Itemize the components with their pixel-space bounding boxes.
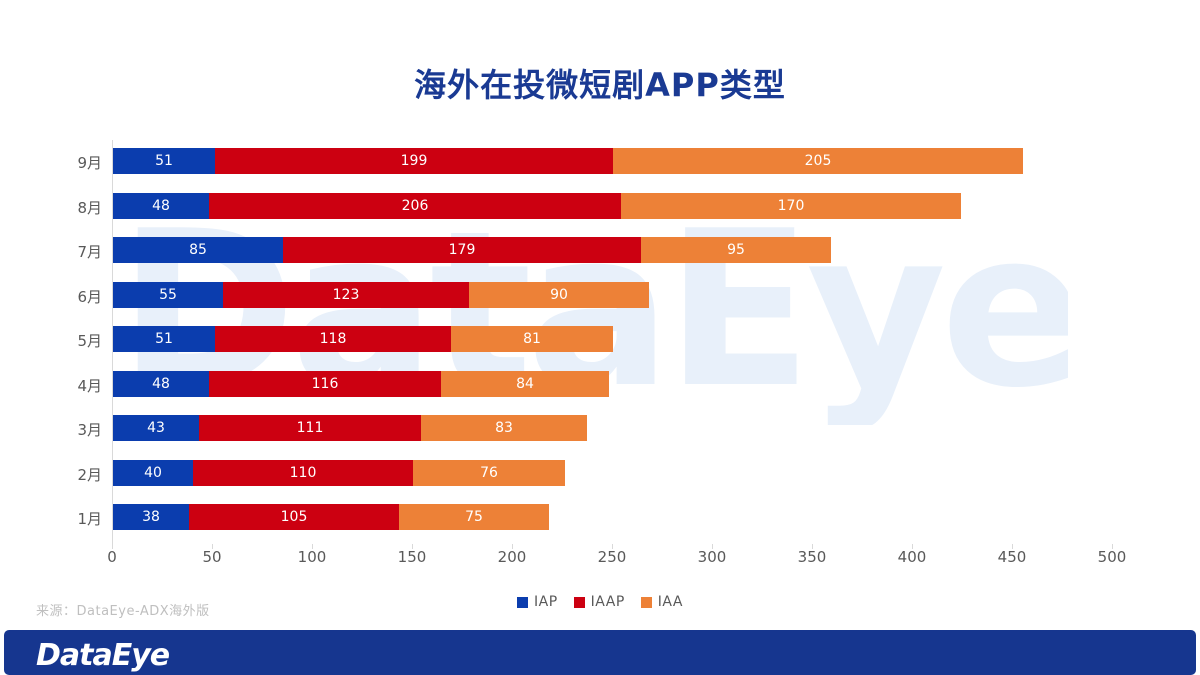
bar-segment-iap[interactable]: 40 xyxy=(113,460,193,486)
bar-segment-iaap[interactable]: 199 xyxy=(215,148,613,174)
x-axis-tick-label: 150 xyxy=(382,548,442,566)
bar-value-label: 105 xyxy=(281,509,308,525)
bar-value-label: 116 xyxy=(312,376,339,392)
category-label: 1月 xyxy=(12,508,102,529)
footer-bar: DataEye xyxy=(4,630,1196,675)
bar-segment-iaap[interactable]: 118 xyxy=(215,326,451,352)
bar-segment-iaa[interactable]: 90 xyxy=(469,282,649,308)
category-label: 7月 xyxy=(12,241,102,262)
bar-row[interactable]: 4811684 xyxy=(113,371,609,397)
bar-value-label: 48 xyxy=(152,376,170,392)
bar-segment-iaap[interactable]: 105 xyxy=(189,504,399,530)
bar-value-label: 118 xyxy=(320,331,347,347)
legend-label: IAP xyxy=(534,594,558,610)
bar-row[interactable]: 3810575 xyxy=(113,504,549,530)
legend-swatch-icon xyxy=(517,597,528,608)
x-axis-tick-label: 250 xyxy=(582,548,642,566)
bar-segment-iap[interactable]: 48 xyxy=(113,371,209,397)
bar-row[interactable]: 48206170 xyxy=(113,193,961,219)
bar-value-label: 90 xyxy=(550,287,568,303)
bar-segment-iap[interactable]: 51 xyxy=(113,148,215,174)
bar-row[interactable]: 51199205 xyxy=(113,148,1023,174)
bar-segment-iap[interactable]: 55 xyxy=(113,282,223,308)
category-label: 3月 xyxy=(12,419,102,440)
x-axis-tick-label: 50 xyxy=(182,548,242,566)
legend-item-iap[interactable]: IAP xyxy=(517,594,558,610)
bar-row[interactable]: 4311183 xyxy=(113,415,587,441)
legend-item-iaa[interactable]: IAA xyxy=(641,594,683,610)
bar-segment-iaap[interactable]: 206 xyxy=(209,193,621,219)
bar-value-label: 179 xyxy=(449,242,476,258)
x-axis-tick-label: 100 xyxy=(282,548,342,566)
bar-segment-iaa[interactable]: 83 xyxy=(421,415,587,441)
bar-segment-iap[interactable]: 48 xyxy=(113,193,209,219)
category-label: 6月 xyxy=(12,286,102,307)
legend-swatch-icon xyxy=(574,597,585,608)
bar-value-label: 75 xyxy=(465,509,483,525)
legend-swatch-icon xyxy=(641,597,652,608)
bar-value-label: 84 xyxy=(516,376,534,392)
bar-value-label: 123 xyxy=(333,287,360,303)
bar-segment-iaap[interactable]: 116 xyxy=(209,371,441,397)
bar-value-label: 83 xyxy=(495,420,513,436)
source-note: 来源：DataEye-ADX海外版 xyxy=(36,600,210,619)
legend-item-iaap[interactable]: IAAP xyxy=(574,594,625,610)
category-label: 5月 xyxy=(12,330,102,351)
bar-row[interactable]: 5512390 xyxy=(113,282,649,308)
x-axis-tick-label: 450 xyxy=(982,548,1042,566)
x-axis-tick-label: 350 xyxy=(782,548,842,566)
bar-segment-iaap[interactable]: 179 xyxy=(283,237,641,263)
category-label: 4月 xyxy=(12,375,102,396)
category-label: 9月 xyxy=(12,152,102,173)
bar-value-label: 95 xyxy=(727,242,745,258)
bar-value-label: 48 xyxy=(152,198,170,214)
bar-segment-iap[interactable]: 38 xyxy=(113,504,189,530)
bar-segment-iaa[interactable]: 75 xyxy=(399,504,549,530)
bar-segment-iaap[interactable]: 110 xyxy=(193,460,413,486)
bar-value-label: 199 xyxy=(401,153,428,169)
bar-row[interactable]: 8517995 xyxy=(113,237,831,263)
category-label: 2月 xyxy=(12,464,102,485)
bar-segment-iaa[interactable]: 205 xyxy=(613,148,1023,174)
bar-value-label: 110 xyxy=(290,465,317,481)
bar-value-label: 38 xyxy=(142,509,160,525)
legend-label: IAAP xyxy=(591,594,625,610)
bar-value-label: 206 xyxy=(402,198,429,214)
bar-segment-iap[interactable]: 51 xyxy=(113,326,215,352)
bar-value-label: 170 xyxy=(778,198,805,214)
bar-segment-iaap[interactable]: 111 xyxy=(199,415,421,441)
bar-segment-iap[interactable]: 43 xyxy=(113,415,199,441)
bar-value-label: 51 xyxy=(155,331,173,347)
bar-segment-iaa[interactable]: 81 xyxy=(451,326,613,352)
bar-value-label: 40 xyxy=(144,465,162,481)
bar-segment-iaa[interactable]: 76 xyxy=(413,460,565,486)
legend-label: IAA xyxy=(658,594,683,610)
page-title: 海外在投微短剧APP类型 xyxy=(0,60,1200,106)
bar-value-label: 111 xyxy=(297,420,324,436)
x-axis-tick-label: 500 xyxy=(1082,548,1142,566)
bar-value-label: 81 xyxy=(523,331,541,347)
bar-segment-iap[interactable]: 85 xyxy=(113,237,283,263)
bar-value-label: 51 xyxy=(155,153,173,169)
bar-value-label: 205 xyxy=(805,153,832,169)
x-axis-tick-label: 200 xyxy=(482,548,542,566)
bar-row[interactable]: 5111881 xyxy=(113,326,613,352)
bar-value-label: 85 xyxy=(189,242,207,258)
bar-segment-iaa[interactable]: 84 xyxy=(441,371,609,397)
x-axis-tick-label: 300 xyxy=(682,548,742,566)
bar-segment-iaa[interactable]: 170 xyxy=(621,193,961,219)
x-axis-tick-label: 0 xyxy=(82,548,142,566)
bar-segment-iaap[interactable]: 123 xyxy=(223,282,469,308)
bar-segment-iaa[interactable]: 95 xyxy=(641,237,831,263)
bar-value-label: 76 xyxy=(480,465,498,481)
category-label: 8月 xyxy=(12,197,102,218)
x-axis-tick-label: 400 xyxy=(882,548,942,566)
dataeye-logo: DataEye xyxy=(36,638,169,673)
bar-value-label: 43 xyxy=(147,420,165,436)
bar-row[interactable]: 4011076 xyxy=(113,460,565,486)
bar-value-label: 55 xyxy=(159,287,177,303)
